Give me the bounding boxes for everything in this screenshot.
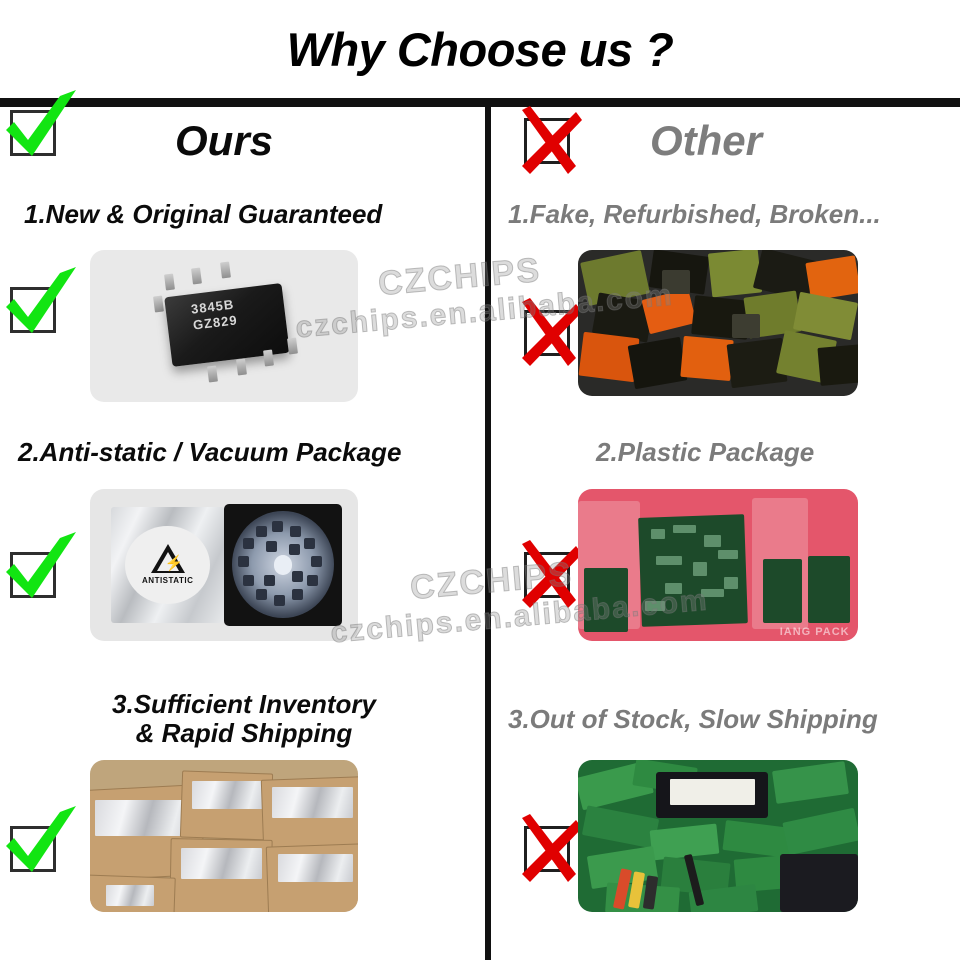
ours-row-2-caption: 2.Anti-static / Vacuum Package (18, 438, 478, 467)
red-cross-icon-row-2 (524, 552, 570, 598)
other-row-2-photo: IANG PACK (578, 489, 858, 641)
comparison-infographic: Why Choose us ? Ours Other 1.New & Origi… (0, 0, 960, 960)
check-glyph (0, 804, 82, 884)
other-row-1-photo (578, 250, 858, 396)
ours-row-2-photo: ⚡ ANTISTATIC (90, 489, 358, 641)
red-cross-icon-row-1 (524, 310, 570, 356)
chip-marking-text: 3845B GZ829 (190, 296, 238, 334)
check-glyph (0, 88, 82, 168)
pack-watermark: IANG PACK (780, 626, 850, 638)
other-row-3-photo (578, 760, 858, 912)
red-cross-icon-row-3 (524, 826, 570, 872)
ours-row-3-photo (90, 760, 358, 912)
column-header-other: Other (650, 110, 762, 172)
green-check-icon-row-1 (10, 287, 56, 333)
horizontal-divider (0, 98, 960, 107)
component-reel-tray (224, 504, 342, 626)
check-glyph (0, 265, 82, 345)
warning-triangle-icon: ⚡ (151, 544, 185, 573)
ours-row-3-caption: 3.Sufficient Inventory & Rapid Shipping (24, 690, 464, 748)
ours-row-1-caption: 1.New & Original Guaranteed (24, 200, 474, 229)
other-row-2-caption: 2.Plastic Package (596, 438, 956, 467)
antistatic-label: ANTISTATIC (142, 576, 193, 585)
red-cross-icon (524, 118, 570, 164)
cross-glyph (512, 296, 586, 370)
other-row-1-caption: 1.Fake, Refurbished, Broken... (508, 200, 953, 229)
cross-glyph (512, 104, 586, 178)
check-glyph (0, 530, 82, 610)
vertical-divider (485, 107, 491, 960)
green-check-icon-row-2 (10, 552, 56, 598)
ours-row-1-photo: 3845B GZ829 (90, 250, 358, 402)
column-header-ours: Ours (175, 110, 273, 172)
cross-glyph (512, 538, 586, 612)
green-check-icon (10, 110, 56, 156)
black-module (656, 772, 768, 818)
page-title: Why Choose us ? (0, 22, 960, 77)
green-check-icon-row-3 (10, 826, 56, 872)
cross-glyph (512, 812, 586, 886)
other-row-3-caption: 3.Out of Stock, Slow Shipping (508, 705, 958, 734)
antistatic-bag: ⚡ ANTISTATIC (111, 507, 224, 623)
